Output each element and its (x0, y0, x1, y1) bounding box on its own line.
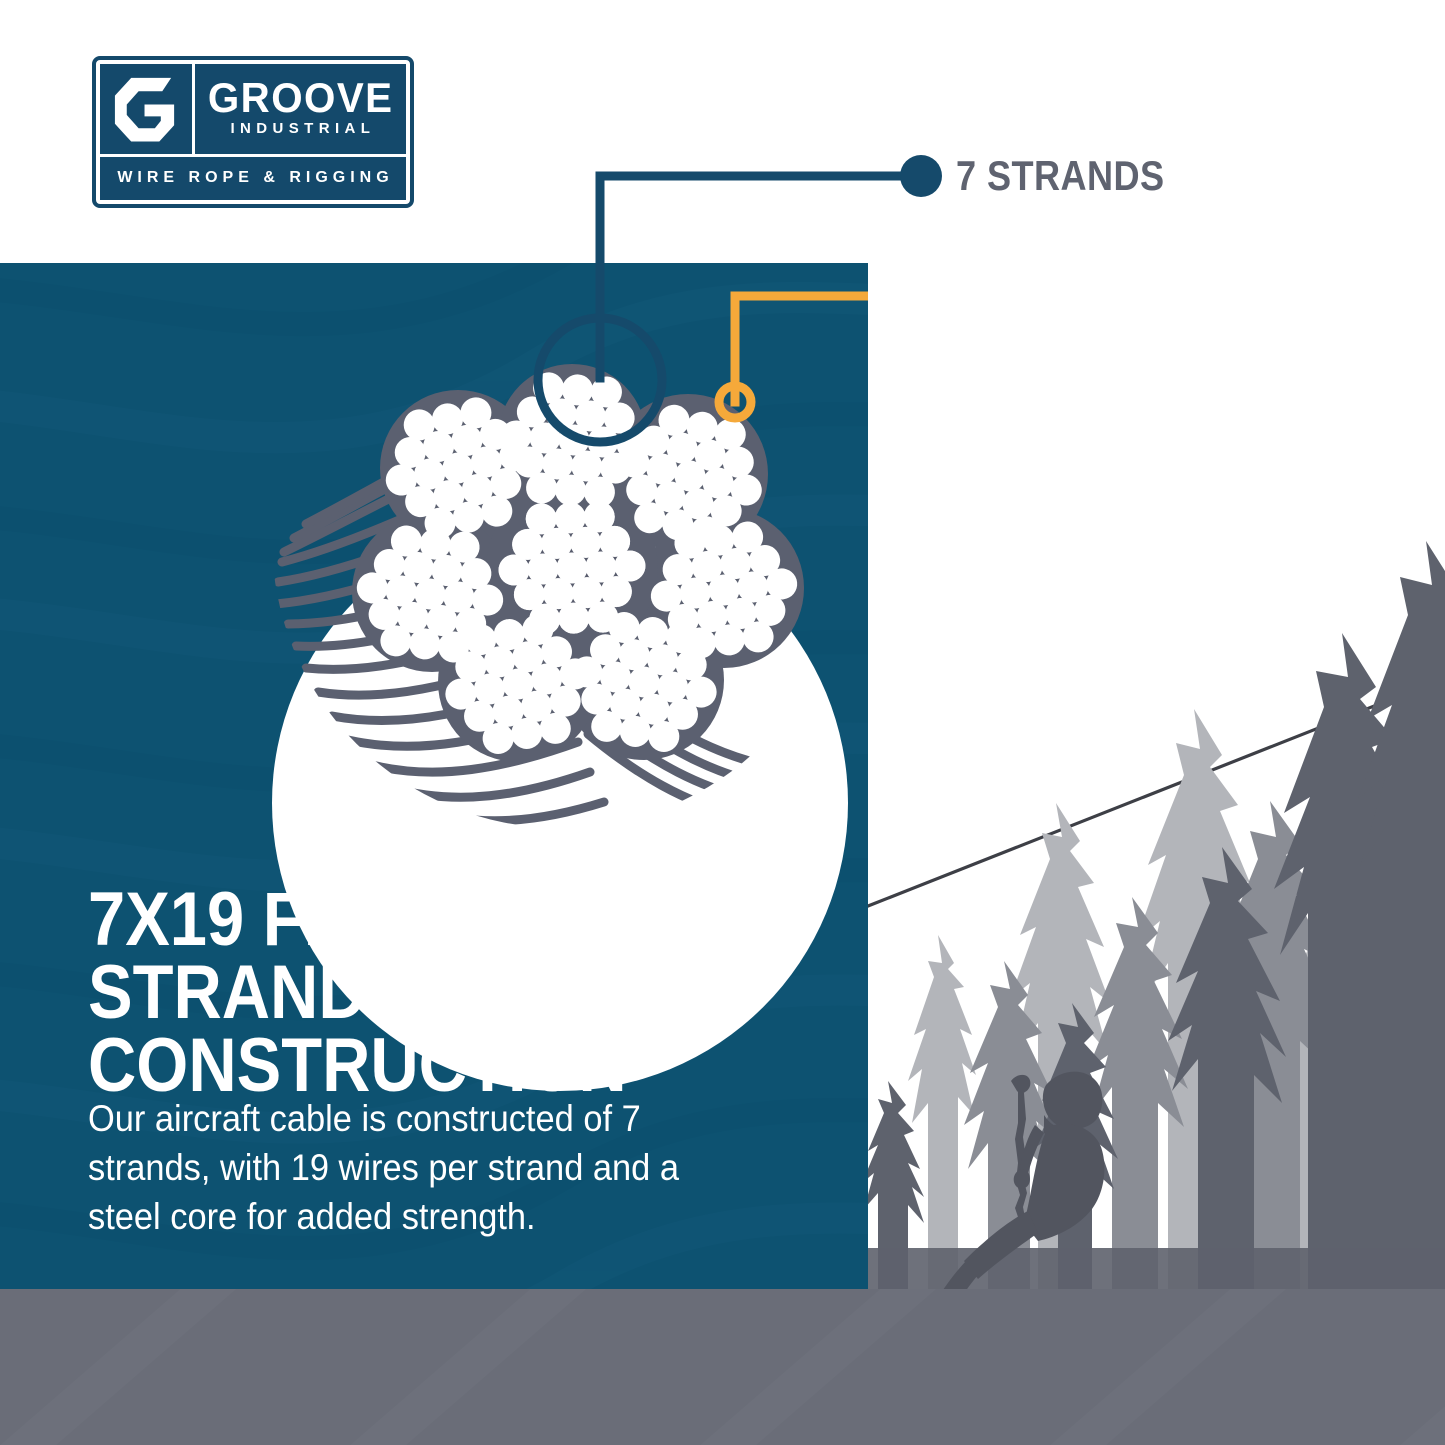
bottom-gray-band (0, 1289, 1445, 1445)
g-hexagon-logo-icon (100, 64, 192, 154)
zipline-scene-illustration (868, 263, 1445, 1290)
callout-label-strands: 7 STRANDS (956, 152, 1165, 200)
callout-dot-strands (900, 155, 942, 197)
magnifier-circle-icon (520, 300, 680, 460)
page-title: 7X19 FLEXIBLE STRAND CONSTRUCTION (88, 884, 757, 1103)
headline-line-2: STRAND CONSTRUCTION (88, 957, 757, 1103)
zipline-scene (868, 263, 1445, 1290)
brand-tagline: WIRE ROPE & RIGGING (112, 169, 393, 187)
brand-name: GROOVE (208, 78, 394, 118)
brand-subtitle: INDUSTRIAL (225, 121, 375, 138)
bottom-band-texture (0, 1289, 1445, 1445)
brand-logo[interactable]: GROOVE INDUSTRIAL WIRE ROPE & RIGGING (92, 56, 414, 208)
infographic-canvas: 7 STRANDS 19 WIRES PER STRAND HOT DIP GA… (0, 0, 1445, 1445)
body-copy: Our aircraft cable is constructed of 7 s… (88, 1094, 711, 1242)
